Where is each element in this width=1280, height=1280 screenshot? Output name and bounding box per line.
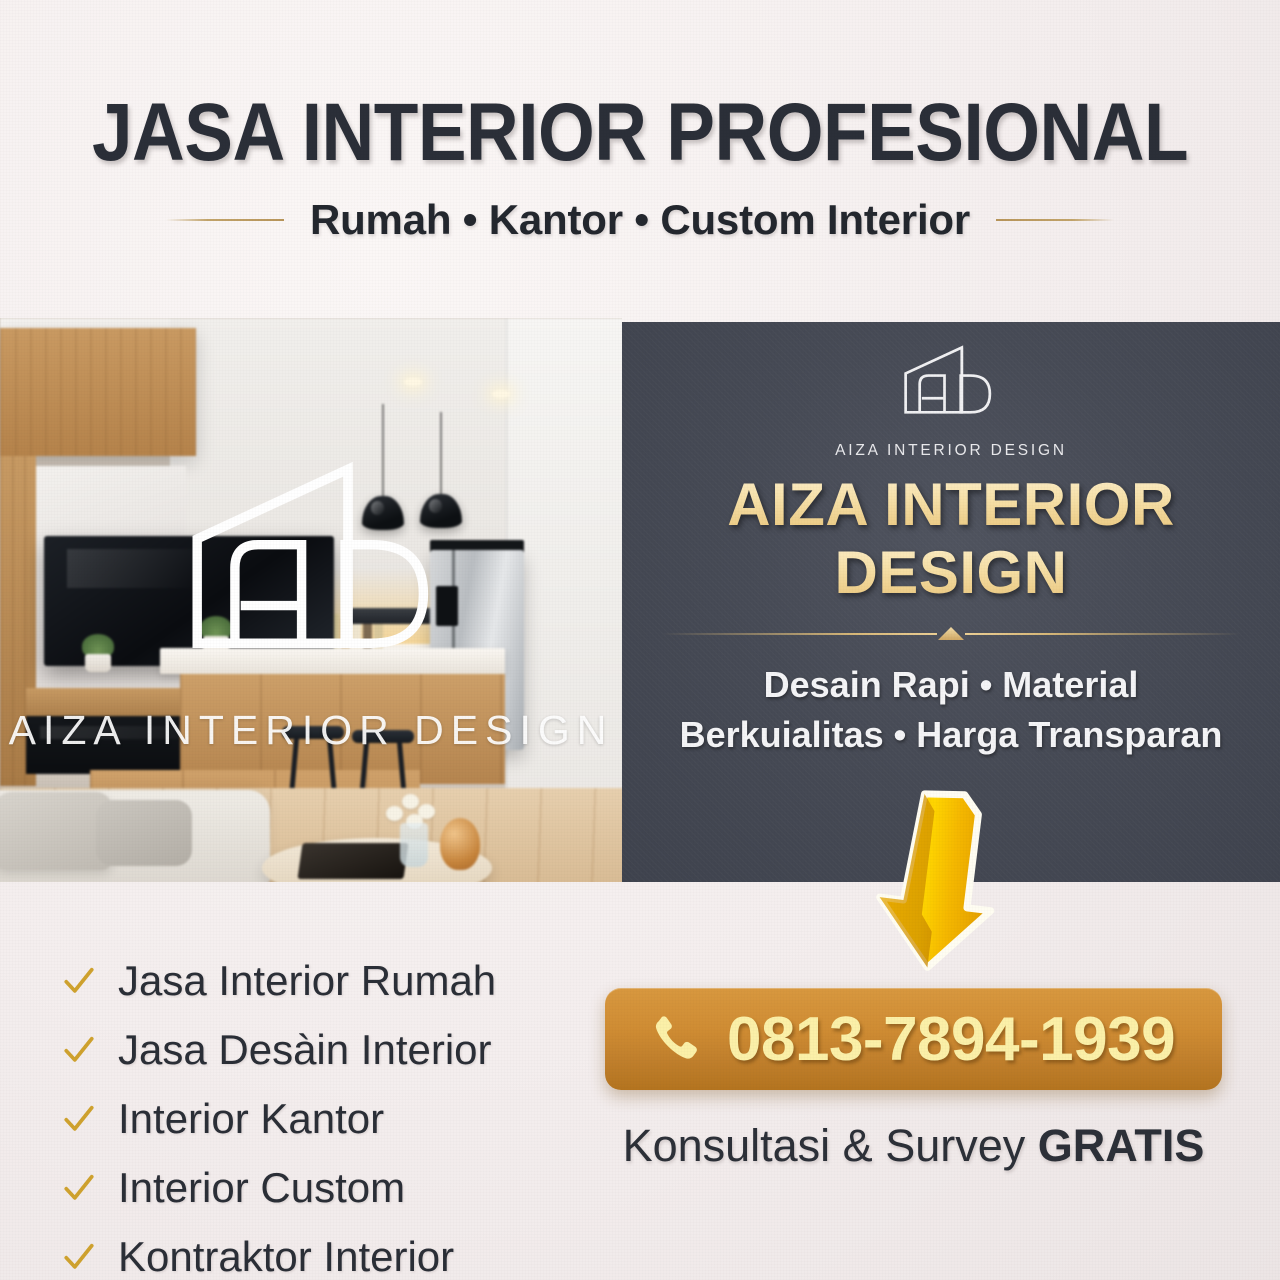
- pendant-wire: [382, 404, 384, 500]
- vase: [400, 823, 428, 867]
- list-item: Interior Kantor: [62, 1084, 582, 1153]
- phone-number: 0813-7894-1939: [727, 1004, 1175, 1075]
- amber-vase: [440, 818, 480, 870]
- range-hood: [350, 608, 440, 624]
- panel-tagline-line2: Berkuialitas • Harga Transparan: [622, 714, 1280, 756]
- tray: [297, 843, 408, 879]
- plant-icon: [78, 636, 118, 672]
- list-item-label: Jasa Desàin Interior: [118, 1026, 492, 1074]
- cta-subtext: Konsultasi & Survey GRATIS: [605, 1120, 1222, 1172]
- check-icon: [62, 1102, 96, 1136]
- upper-wood-cabinet: [0, 328, 196, 456]
- downlight-icon: [404, 378, 422, 386]
- brand-name-line2: DESIGN: [622, 538, 1280, 607]
- list-item: Kontraktor Interior: [62, 1222, 582, 1280]
- list-item-label: Interior Custom: [118, 1164, 405, 1212]
- photo-scene: [0, 318, 622, 882]
- divider-line-right: [996, 219, 1114, 221]
- fridge-dispenser: [436, 586, 458, 626]
- ornament-line-left: [662, 633, 937, 635]
- poster-root: JASA INTERIOR PROFESIONAL Rumah • Kantor…: [0, 0, 1280, 1280]
- check-icon: [62, 1033, 96, 1067]
- pendant-wire: [440, 412, 442, 498]
- phone-icon: [647, 1011, 701, 1067]
- cta-subtext-bold: GRATIS: [1038, 1120, 1205, 1171]
- check-icon: [62, 964, 96, 998]
- downlight-icon: [492, 390, 510, 398]
- services-checklist: Jasa Interior Rumah Jasa Desàin Interior…: [62, 946, 582, 1280]
- aiza-house-ad-monogram-icon: [897, 340, 1005, 436]
- cta-subtext-plain: Konsultasi & Survey: [623, 1120, 1038, 1171]
- list-item-label: Interior Kantor: [118, 1095, 384, 1143]
- header: JASA INTERIOR PROFESIONAL Rumah • Kantor…: [0, 0, 1280, 318]
- panel-tagline-line1: Desain Rapi • Material: [622, 664, 1280, 706]
- list-item-label: Kontraktor Interior: [118, 1233, 454, 1280]
- list-item: Jasa Desàin Interior: [62, 1015, 582, 1084]
- check-icon: [62, 1240, 96, 1274]
- list-item: Jasa Interior Rumah: [62, 946, 582, 1015]
- page-title: JASA INTERIOR PROFESIONAL: [0, 86, 1280, 179]
- subheadline: Rumah • Kantor • Custom Interior: [310, 196, 970, 244]
- phone-cta-button[interactable]: 0813-7894-1939: [605, 988, 1222, 1090]
- cushion: [96, 800, 192, 866]
- ornament-divider: [662, 627, 1240, 641]
- down-arrow-icon: [862, 786, 1012, 976]
- panel-logo: AIZA INTERIOR DESIGN: [622, 340, 1280, 460]
- kitchen-island-top: [160, 648, 505, 674]
- panel-logo-caption: AIZA INTERIOR DESIGN: [835, 442, 1067, 460]
- list-item-label: Jasa Interior Rumah: [118, 957, 496, 1005]
- divider-line-left: [166, 219, 284, 221]
- interior-photo: AIZA INTERIOR DESIGN: [0, 318, 622, 882]
- list-item: Interior Custom: [62, 1153, 582, 1222]
- check-icon: [62, 1171, 96, 1205]
- ornament-line-right: [965, 633, 1240, 635]
- ornament-diamond: [938, 627, 964, 640]
- subheadline-row: Rumah • Kantor • Custom Interior: [0, 196, 1280, 244]
- brand-name-line1: AIZA INTERIOR: [622, 470, 1280, 539]
